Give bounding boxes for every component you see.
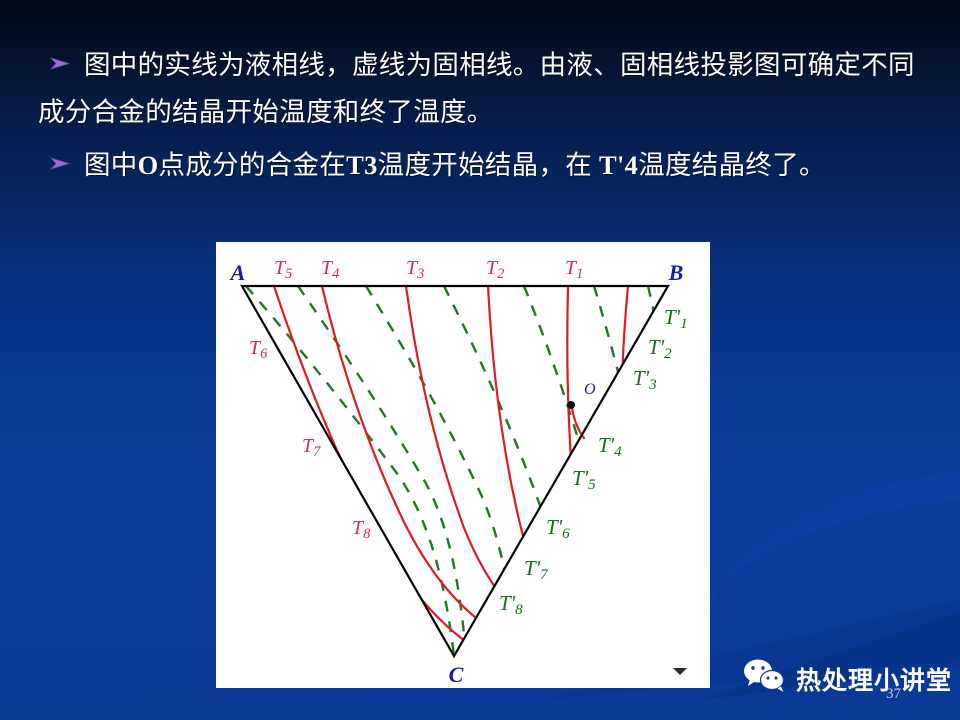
label-T1-prime: T'1: [664, 305, 688, 332]
ternary-projection-svg: A B C O T5 T4 T3 T2 T1 T6 T7 T8 T'1: [216, 242, 710, 688]
label-T7: T7: [302, 435, 321, 460]
bullet-2-point-o: O: [138, 150, 159, 180]
bullet-2-suffix: 温度结晶终了。: [638, 150, 826, 180]
label-T7-prime: T'7: [524, 556, 549, 583]
wechat-logo-icon: [742, 658, 786, 699]
left-temperature-labels: T6 T7 T8: [249, 337, 371, 542]
bullet-2-temp-t4prime: T'4: [599, 150, 638, 180]
label-T6-prime: T'6: [546, 515, 570, 542]
bullet-2-mid2: 温度开始结晶，在: [378, 150, 599, 180]
top-temperature-labels: T5 T4 T3 T2 T1: [274, 257, 583, 282]
bullet-1-text: 图中的实线为液相线，虚线为固相线。由液、固相线投影图可确定不同成分合金的结晶开始…: [38, 42, 928, 136]
right-temperature-labels: T'1 T'2 T'3 T'4 T'5 T'6 T'7 T'8: [499, 305, 688, 618]
solidus-curve-group: [246, 286, 694, 656]
bullet-item-2: 图中O点成分的合金在T3温度开始结晶，在 T'4温度结晶终了。: [38, 142, 928, 189]
label-T6: T6: [249, 337, 268, 362]
label-T5: T5: [274, 257, 292, 282]
composition-point-o-marker[interactable]: [567, 401, 575, 409]
ternary-triangle-outline: [242, 286, 668, 656]
vertex-label-B: B: [668, 260, 684, 285]
label-T4: T4: [321, 257, 339, 282]
bullet-2-mid1: 点成分的合金在: [159, 150, 347, 180]
presentation-slide: 图中的实线为液相线，虚线为固相线。由液、固相线投影图可确定不同成分合金的结晶开始…: [0, 0, 960, 720]
page-number: 37: [886, 686, 901, 703]
slide-body-text: 图中的实线为液相线，虚线为固相线。由液、固相线投影图可确定不同成分合金的结晶开始…: [38, 42, 928, 195]
label-T4-prime: T'4: [598, 433, 622, 460]
label-T8: T8: [352, 517, 371, 542]
label-T3: T3: [406, 257, 424, 282]
label-T5-prime: T'5: [572, 466, 596, 493]
label-T1: T1: [565, 257, 583, 282]
bullet-2-text: 图中O点成分的合金在T3温度开始结晶，在 T'4温度结晶终了。: [38, 142, 928, 189]
point-label-o: O: [584, 381, 596, 398]
phase-diagram-figure: A B C O T5 T4 T3 T2 T1 T6 T7 T8 T'1: [216, 242, 710, 688]
label-T3-prime: T'3: [633, 366, 657, 393]
label-T8-prime: T'8: [499, 591, 523, 618]
label-T2: T2: [486, 257, 504, 282]
bullet-item-1: 图中的实线为液相线，虚线为固相线。由液、固相线投影图可确定不同成分合金的结晶开始…: [38, 42, 928, 136]
bullet-2-prefix: 图中: [84, 150, 138, 180]
dropdown-caret-icon[interactable]: [673, 668, 687, 675]
brand-name-text: 热处理小讲堂: [796, 661, 952, 697]
brand-logo: 热处理小讲堂: [742, 658, 952, 699]
vertex-label-C: C: [449, 662, 464, 687]
vertex-label-A: A: [229, 260, 246, 285]
label-T2-prime: T'2: [648, 335, 672, 362]
bullet-2-temp-t3: T3: [346, 150, 378, 180]
